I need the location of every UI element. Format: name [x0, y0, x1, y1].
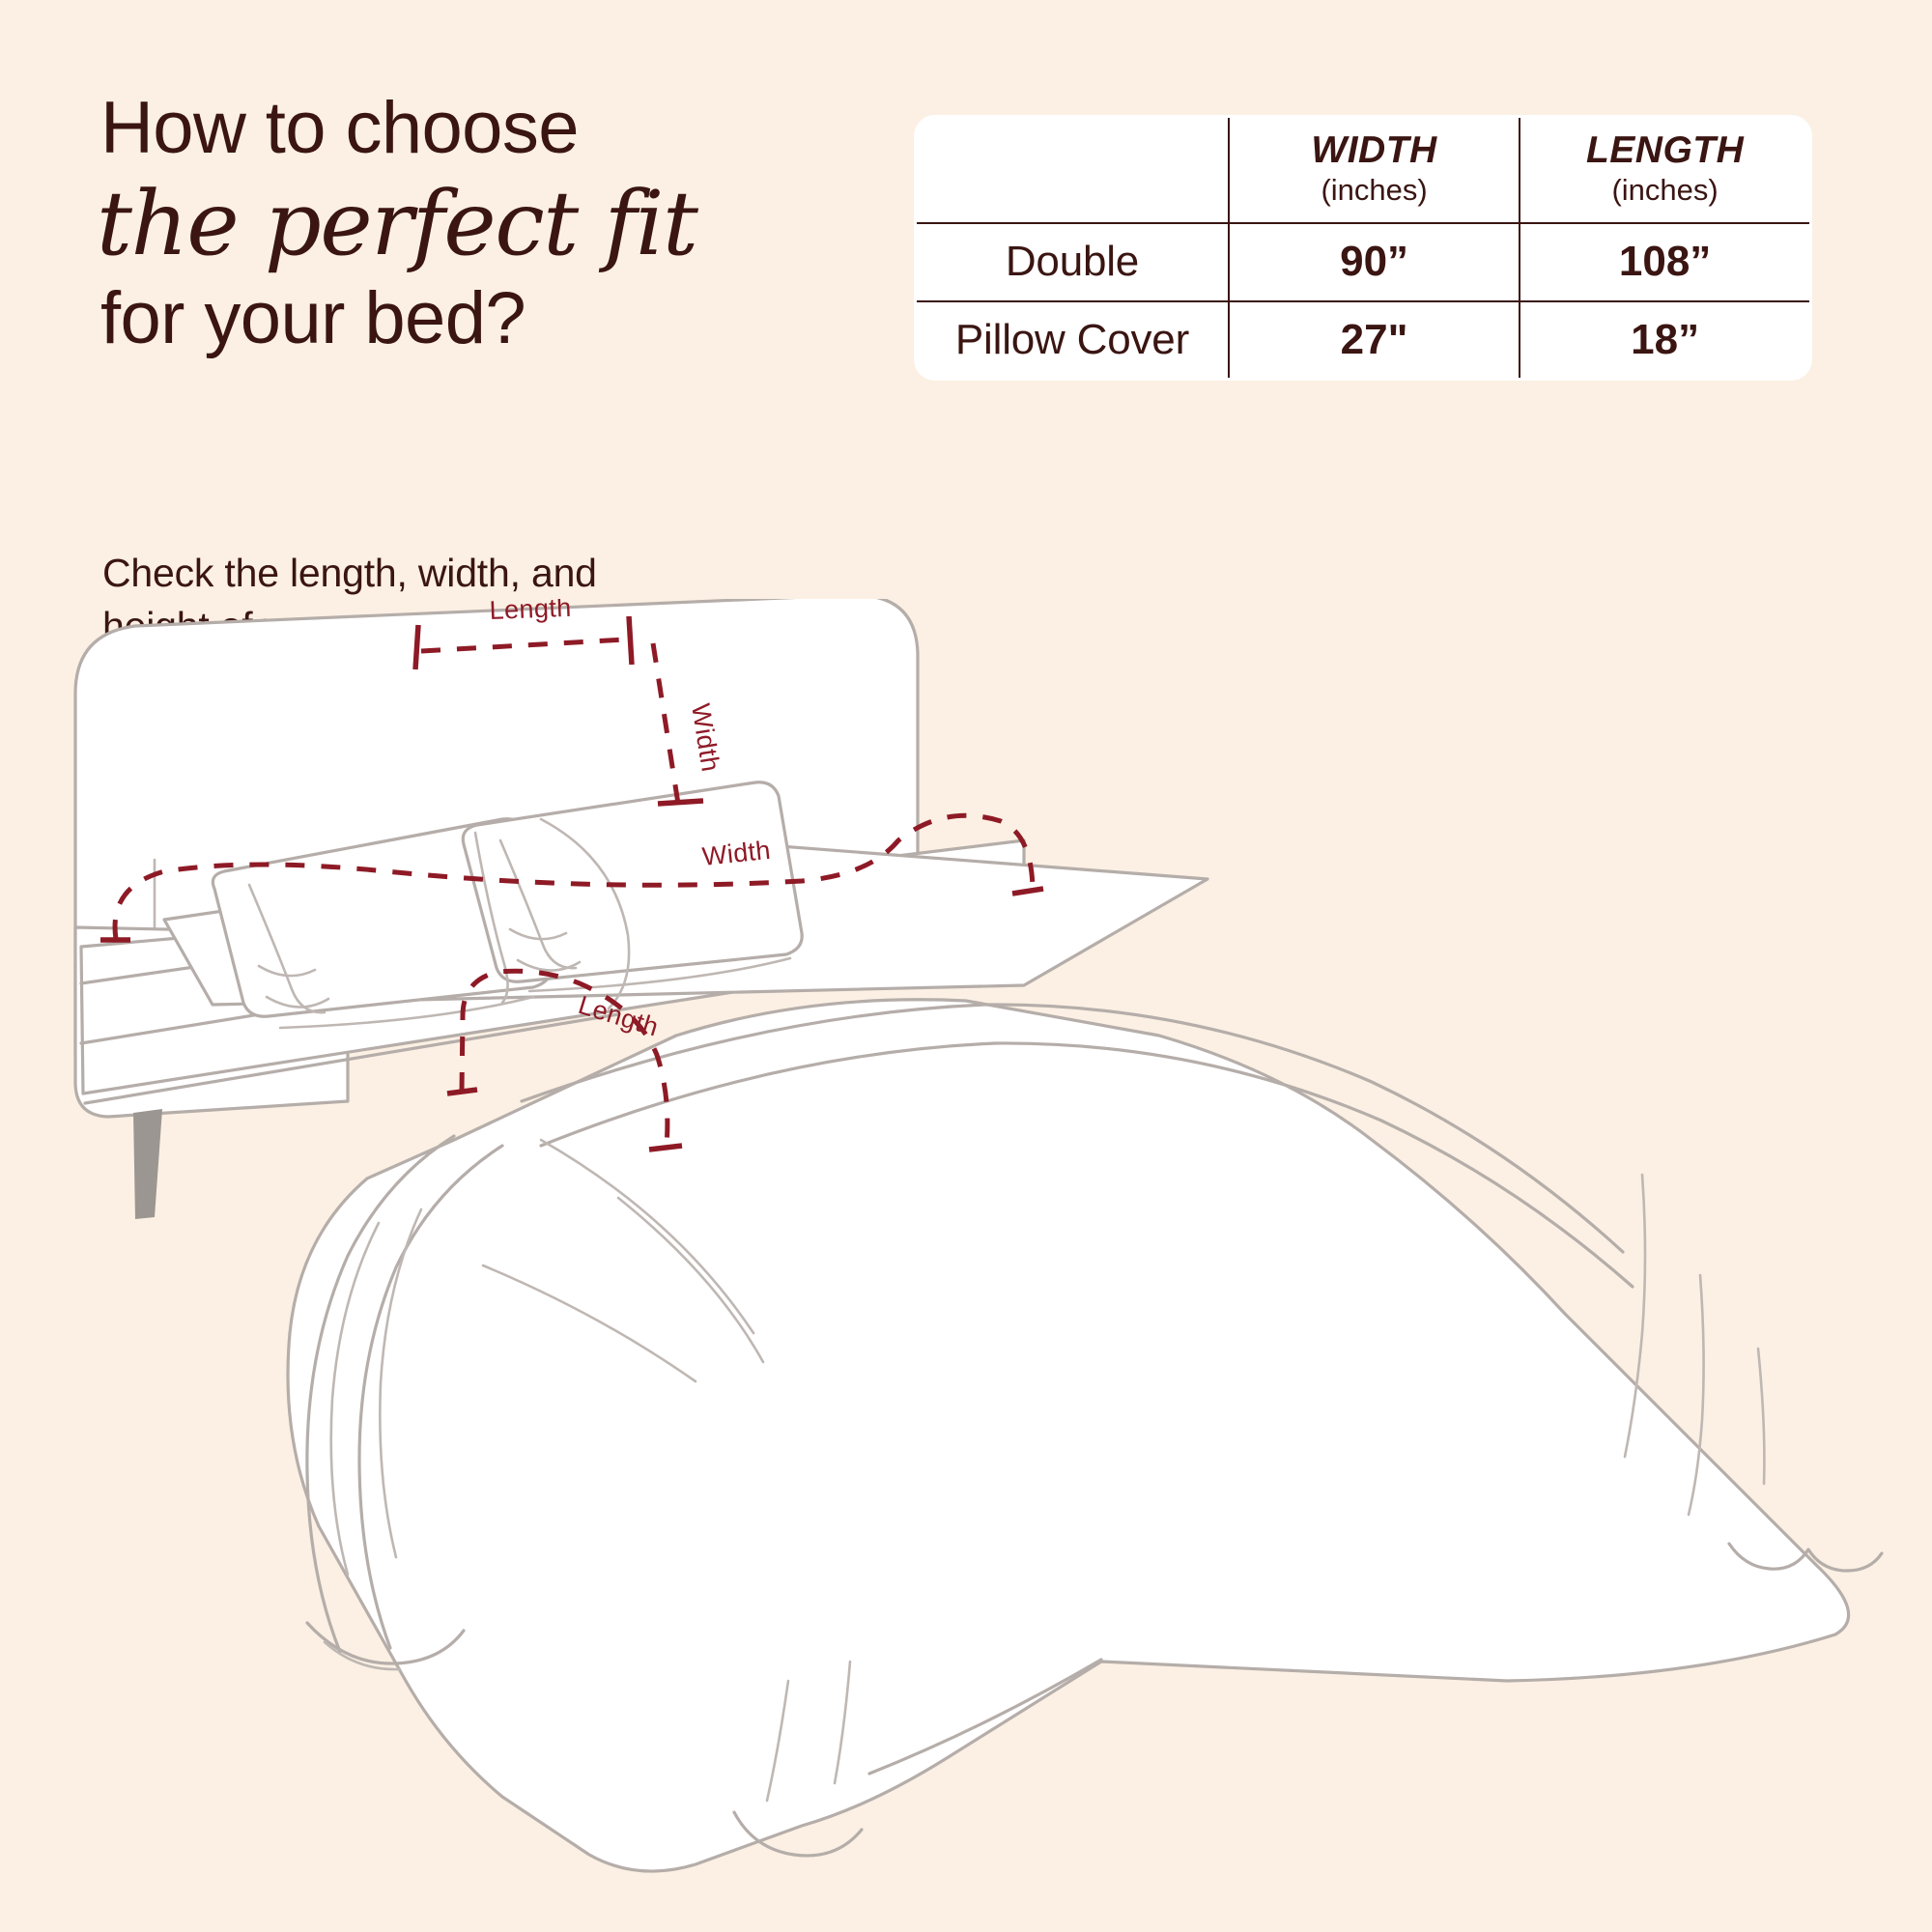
- table-header-length-main: LENGTH: [1520, 130, 1809, 172]
- table-header-width-unit: (inches): [1230, 172, 1519, 210]
- table-header-width: WIDTH (inches): [1229, 117, 1520, 223]
- pillow-length-tick-left: [415, 625, 418, 669]
- table-row: Pillow Cover 27" 18”: [916, 301, 1811, 380]
- bed-illustration: Length Width Width Length: [0, 599, 1932, 1932]
- size-chart-table: WIDTH (inches) LENGTH (inches) Double 90…: [914, 115, 1812, 378]
- table-cell-length: 18”: [1520, 301, 1810, 380]
- headline-line-1: How to choose: [100, 89, 912, 168]
- headline-line-3: for your bed?: [100, 279, 912, 358]
- duvet-drape-right-3: [1758, 1349, 1764, 1484]
- table-row: Double 90” 108”: [916, 223, 1811, 301]
- bed-leg-front-left: [133, 1109, 162, 1219]
- table-cell-size-name: Double: [916, 223, 1229, 301]
- table-cell-length: 108”: [1520, 223, 1810, 301]
- subtitle-line-1: Check the length, width, and: [102, 547, 740, 600]
- pillow-width-tick-bottom: [658, 801, 703, 804]
- table-header-width-main: WIDTH: [1230, 130, 1519, 172]
- table-header-blank: [916, 117, 1229, 223]
- table-cell-width: 90”: [1229, 223, 1520, 301]
- pillow-length-tick-right: [629, 616, 632, 665]
- table-cell-width: 27": [1229, 301, 1520, 380]
- table-header-length: LENGTH (inches): [1520, 117, 1810, 223]
- table-header-length-unit: (inches): [1520, 172, 1809, 210]
- table-cell-size-name: Pillow Cover: [916, 301, 1229, 380]
- headline-script-line: the perfect fit: [97, 172, 912, 277]
- table-header-row: WIDTH (inches) LENGTH (inches): [916, 117, 1811, 223]
- infographic-canvas: How to choose the perfect fit for your b…: [0, 0, 1932, 1932]
- duvet-body: [288, 1000, 1849, 1871]
- pillow-length-label: Length: [489, 599, 572, 625]
- table: WIDTH (inches) LENGTH (inches) Double 90…: [914, 115, 1812, 381]
- page-title: How to choose the perfect fit for your b…: [100, 89, 912, 358]
